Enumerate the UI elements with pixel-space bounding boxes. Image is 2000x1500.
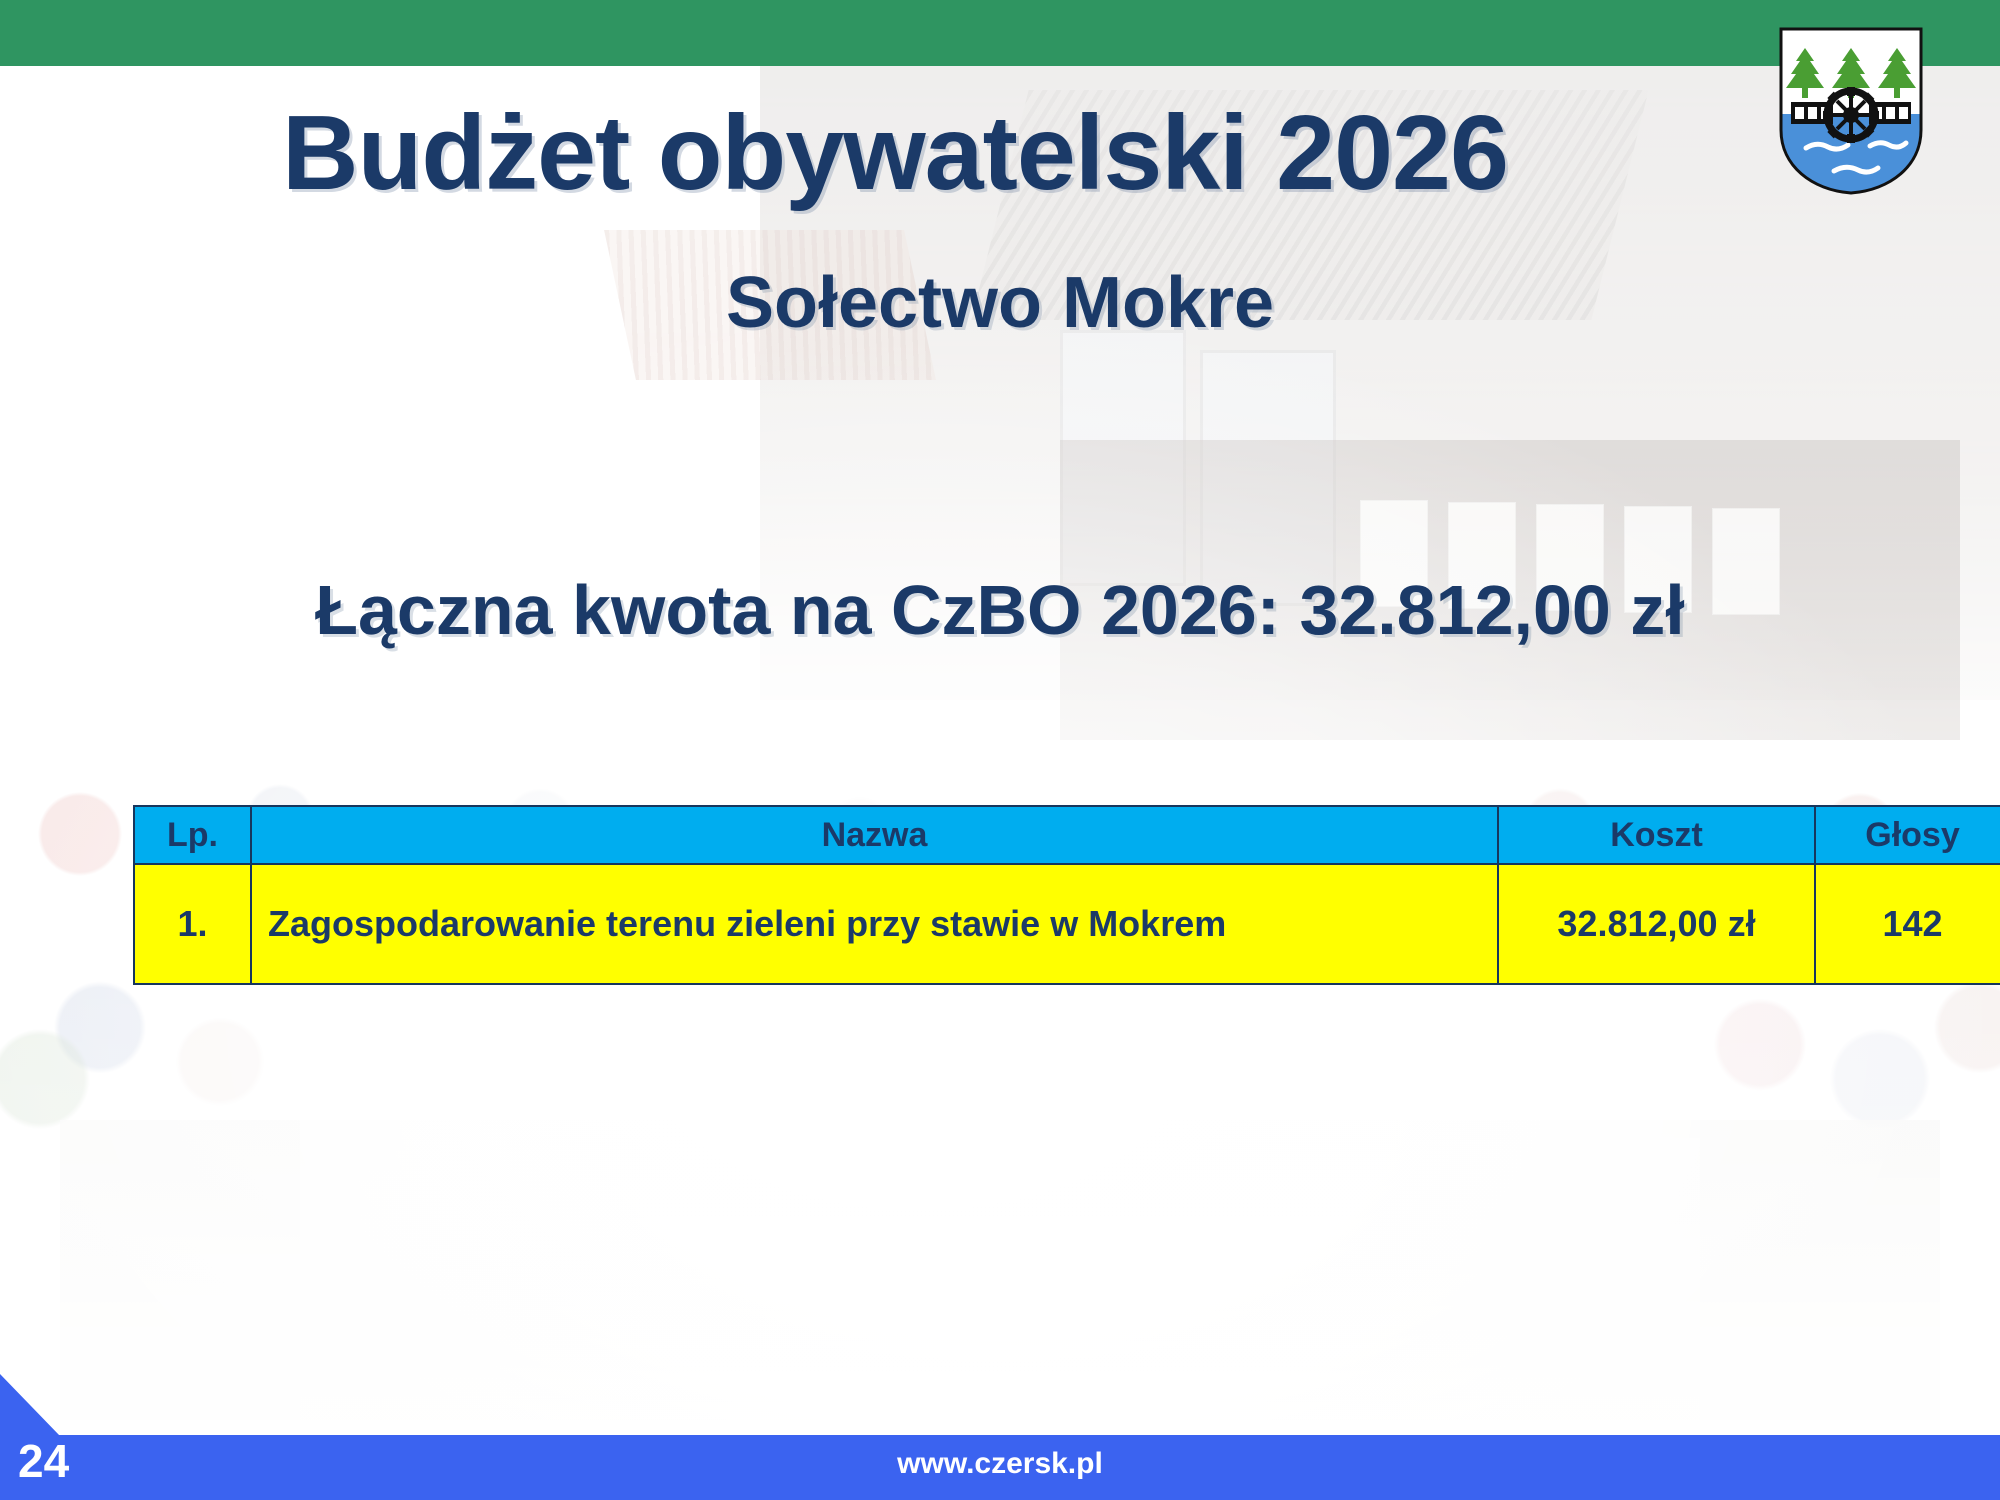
cell-lp: 1. [134, 864, 251, 984]
background-photo [0, 0, 2000, 1500]
cell-glosy: 142 [1815, 864, 2000, 984]
page-title: Budżet obywatelski 2026 [0, 98, 1790, 209]
table-body: 1. Zagospodarowanie terenu zieleni przy … [134, 864, 2000, 984]
table-header: Lp. Nazwa Koszt Głosy [134, 806, 2000, 864]
table-row: 1. Zagospodarowanie terenu zieleni przy … [134, 864, 2000, 984]
column-header-nazwa: Nazwa [251, 806, 1498, 864]
top-green-band [0, 0, 2000, 66]
cell-nazwa: Zagospodarowanie terenu zieleni przy sta… [251, 864, 1498, 984]
table-header-row: Lp. Nazwa Koszt Głosy [134, 806, 2000, 864]
cell-koszt: 32.812,00 zł [1498, 864, 1815, 984]
projects-table: Lp. Nazwa Koszt Głosy 1. Zagospodarowani… [133, 805, 2000, 985]
total-amount-line: Łączna kwota na CzBO 2026: 32.812,00 zł [0, 570, 2000, 650]
footer-url[interactable]: www.czersk.pl [0, 1447, 2000, 1481]
coat-of-arms-icon [1778, 26, 1924, 196]
presentation-slide: Budżet obywatelski 2026 Sołectwo Mokre Ł… [0, 0, 2000, 1500]
column-header-glosy: Głosy [1815, 806, 2000, 864]
water-wheel-icon [1823, 87, 1879, 143]
column-header-koszt: Koszt [1498, 806, 1815, 864]
background-white-highlight [0, 0, 2000, 1500]
column-header-lp: Lp. [134, 806, 251, 864]
subtitle: Sołectwo Mokre [0, 262, 2000, 344]
